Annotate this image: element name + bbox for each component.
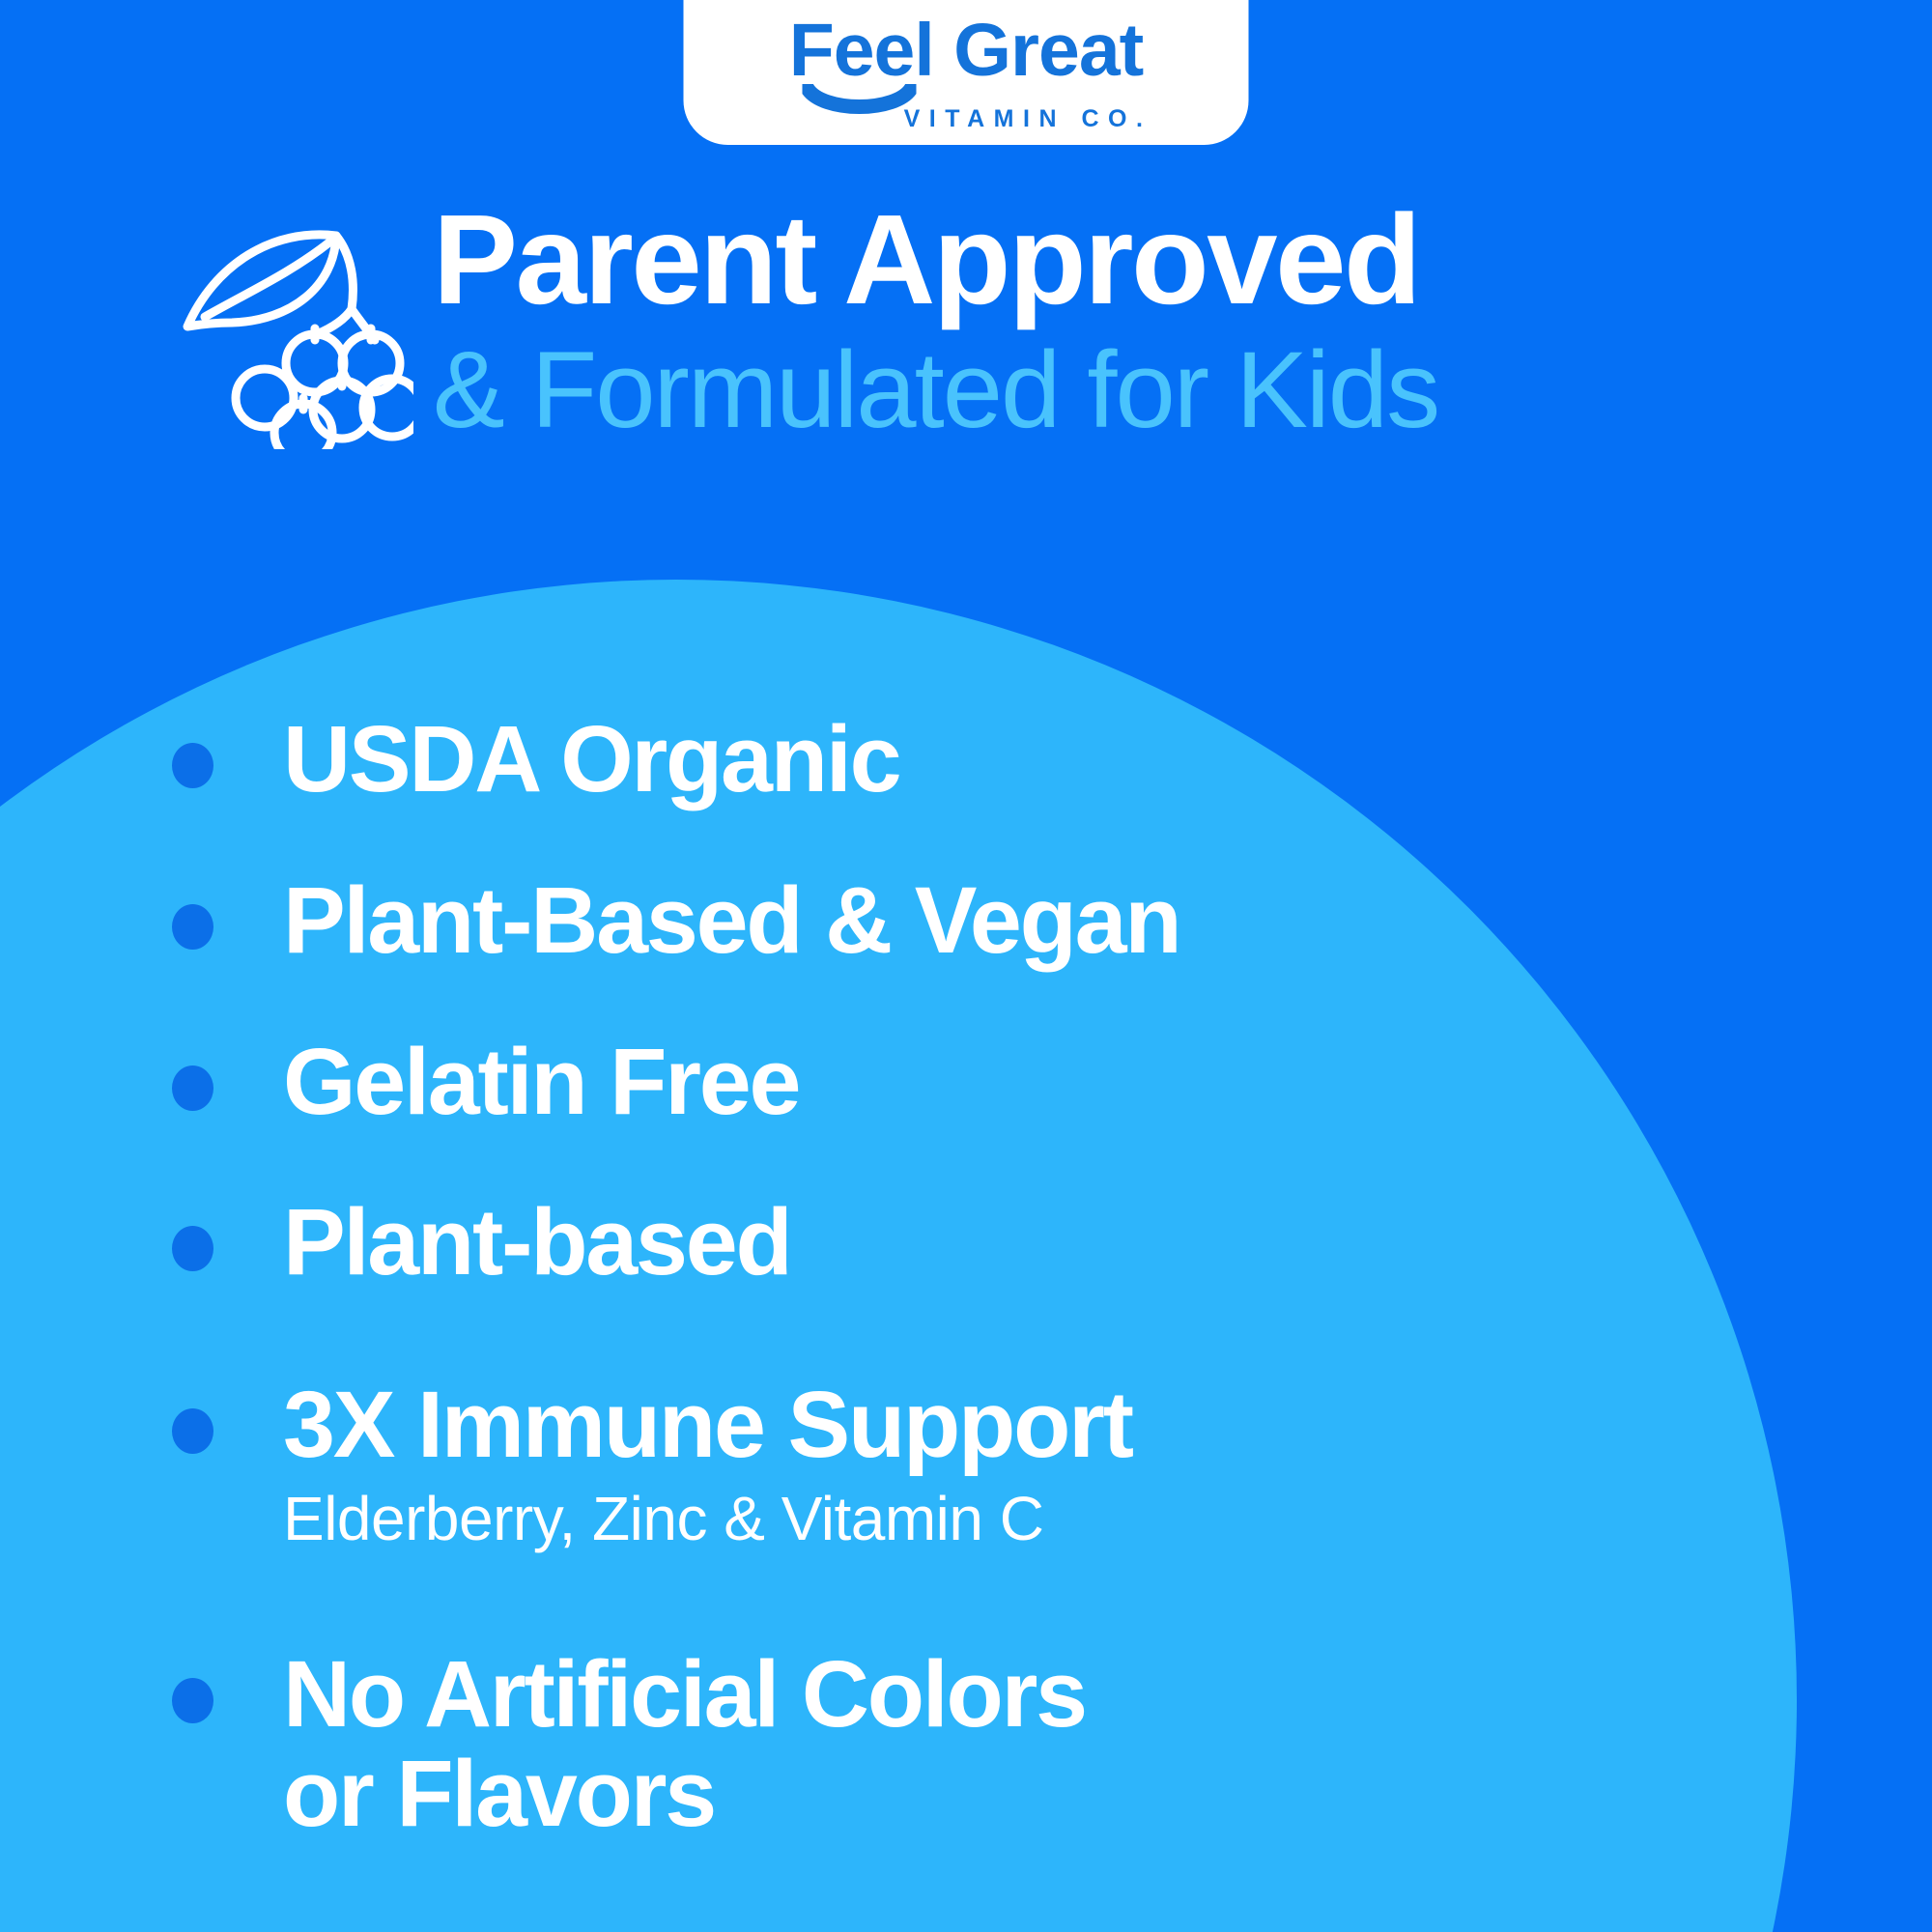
benefit-body: USDA Organic: [283, 710, 1756, 810]
benefit-note: Elderberry, Zinc & Vitamin C: [283, 1485, 1756, 1552]
bullet-dot-icon: [172, 904, 213, 950]
benefit-body: Plant-Based & Vegan: [283, 871, 1756, 971]
benefit-label: Plant-Based & Vegan: [283, 871, 1756, 971]
benefit-body: Plant-based: [283, 1193, 1756, 1293]
benefit-body: Gelatin Free: [283, 1033, 1756, 1132]
benefit-item: Plant-based: [172, 1193, 1756, 1293]
benefit-item: USDA Organic: [172, 710, 1756, 810]
bullet-dot-icon: [172, 1408, 213, 1454]
benefit-body: 3X Immune SupportElderberry, Zinc & Vita…: [283, 1376, 1756, 1552]
benefit-item: No Artificial Colorsor Flavors: [172, 1645, 1756, 1844]
bullet-dot-icon: [172, 1226, 213, 1271]
brand-wordmark: Feel Great: [789, 14, 1144, 88]
benefit-label: 3X Immune Support: [283, 1376, 1756, 1475]
bullet-dot-icon: [172, 1678, 213, 1723]
benefit-label: Gelatin Free: [283, 1033, 1756, 1132]
page-subtitle: & Formulated for Kids: [433, 333, 1438, 447]
page-title: Parent Approved: [433, 195, 1438, 326]
benefit-body: No Artificial Colorsor Flavors: [283, 1645, 1756, 1844]
benefit-label: No Artificial Colorsor Flavors: [283, 1645, 1756, 1844]
brand-tagline: VITAMIN CO.: [904, 107, 1152, 131]
bullet-dot-icon: [172, 1065, 213, 1111]
brand-logo-badge: Feel Great VITAMIN CO.: [684, 0, 1249, 145]
headline-section: Parent Approved & Formulated for Kids: [0, 189, 1932, 449]
brand-wordmark-text: Feel Great: [789, 9, 1144, 92]
benefits-list: USDA OrganicPlant-Based & VeganGelatin F…: [172, 710, 1756, 1844]
benefit-item: 3X Immune SupportElderberry, Zinc & Vita…: [172, 1376, 1756, 1552]
bullet-dot-icon: [172, 743, 213, 788]
headline-text-group: Parent Approved & Formulated for Kids: [433, 195, 1438, 446]
benefit-item: Gelatin Free: [172, 1033, 1756, 1132]
elderberry-cluster-icon: [172, 193, 413, 449]
benefit-item: Plant-Based & Vegan: [172, 871, 1756, 971]
benefit-label: Plant-based: [283, 1193, 1756, 1293]
promo-poster: Feel Great VITAMIN CO.: [0, 0, 1932, 1932]
smile-swoosh-icon: [803, 84, 917, 117]
benefit-label: USDA Organic: [283, 710, 1756, 810]
